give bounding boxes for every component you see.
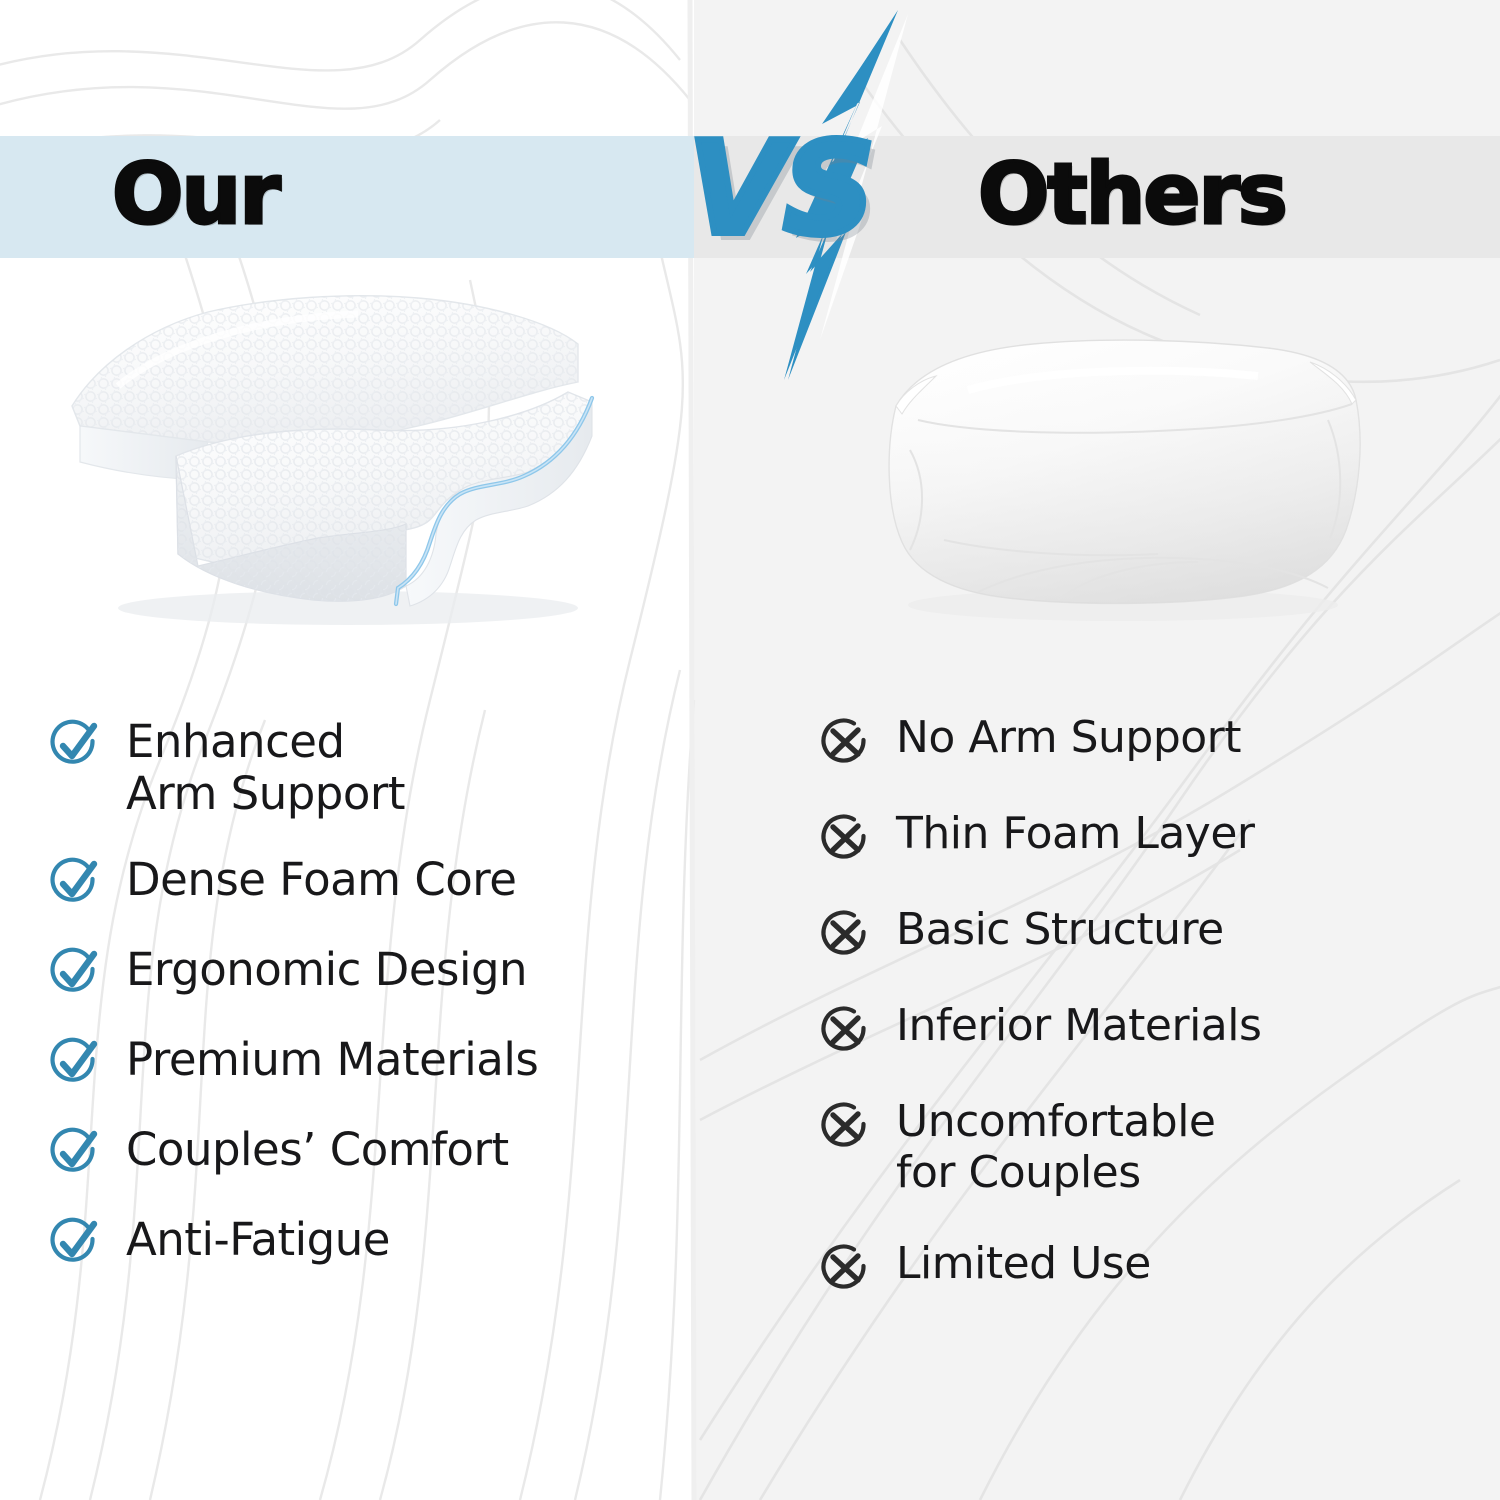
check-circle-icon <box>48 720 100 772</box>
cross-circle-icon <box>818 1100 870 1152</box>
feature-label: Couples’ Comfort <box>126 1124 509 1176</box>
header-band-left <box>0 136 694 258</box>
list-item: Limited Use <box>818 1238 1418 1294</box>
feature-label: Premium Materials <box>126 1034 538 1086</box>
feature-label: Enhanced Arm Support <box>126 716 405 820</box>
feature-label: Dense Foam Core <box>126 854 516 906</box>
feature-label: Thin Foam Layer <box>896 808 1255 859</box>
vs-label: VS <box>688 126 871 254</box>
cross-circle-icon <box>818 812 870 864</box>
list-item: Premium Materials <box>48 1034 668 1090</box>
list-item: Uncomfortable for Couples <box>818 1096 1418 1198</box>
others-features-list: No Arm Support Thin Foam Layer Basic <box>818 712 1418 1334</box>
ergonomic-pillow-image <box>58 286 618 631</box>
standard-pillow-image <box>858 300 1378 625</box>
feature-label: Ergonomic Design <box>126 944 527 996</box>
our-features-list: Enhanced Arm Support Dense Foam Core Erg… <box>48 716 668 1304</box>
list-item: Basic Structure <box>818 904 1418 960</box>
check-circle-icon <box>48 948 100 1000</box>
feature-label: Uncomfortable for Couples <box>896 1096 1216 1198</box>
list-item: Couples’ Comfort <box>48 1124 668 1180</box>
check-circle-icon <box>48 1128 100 1180</box>
feature-label: No Arm Support <box>896 712 1241 763</box>
check-circle-icon <box>48 1218 100 1270</box>
list-item: Thin Foam Layer <box>818 808 1418 864</box>
list-item: No Arm Support <box>818 712 1418 768</box>
feature-label: Limited Use <box>896 1238 1151 1289</box>
list-item: Inferior Materials <box>818 1000 1418 1056</box>
feature-label: Anti-Fatigue <box>126 1214 390 1266</box>
list-item: Anti-Fatigue <box>48 1214 668 1270</box>
list-item: Ergonomic Design <box>48 944 668 1000</box>
page-title-our: Our <box>112 152 279 236</box>
check-circle-icon <box>48 858 100 910</box>
check-circle-icon <box>48 1038 100 1090</box>
feature-label: Basic Structure <box>896 904 1224 955</box>
list-item: Enhanced Arm Support <box>48 716 668 820</box>
comparison-infographic: Our Others VS <box>0 0 1500 1500</box>
cross-circle-icon <box>818 716 870 768</box>
cross-circle-icon <box>818 1242 870 1294</box>
page-title-others: Others <box>978 152 1286 236</box>
list-item: Dense Foam Core <box>48 854 668 910</box>
cross-circle-icon <box>818 1004 870 1056</box>
cross-circle-icon <box>818 908 870 960</box>
feature-label: Inferior Materials <box>896 1000 1261 1051</box>
